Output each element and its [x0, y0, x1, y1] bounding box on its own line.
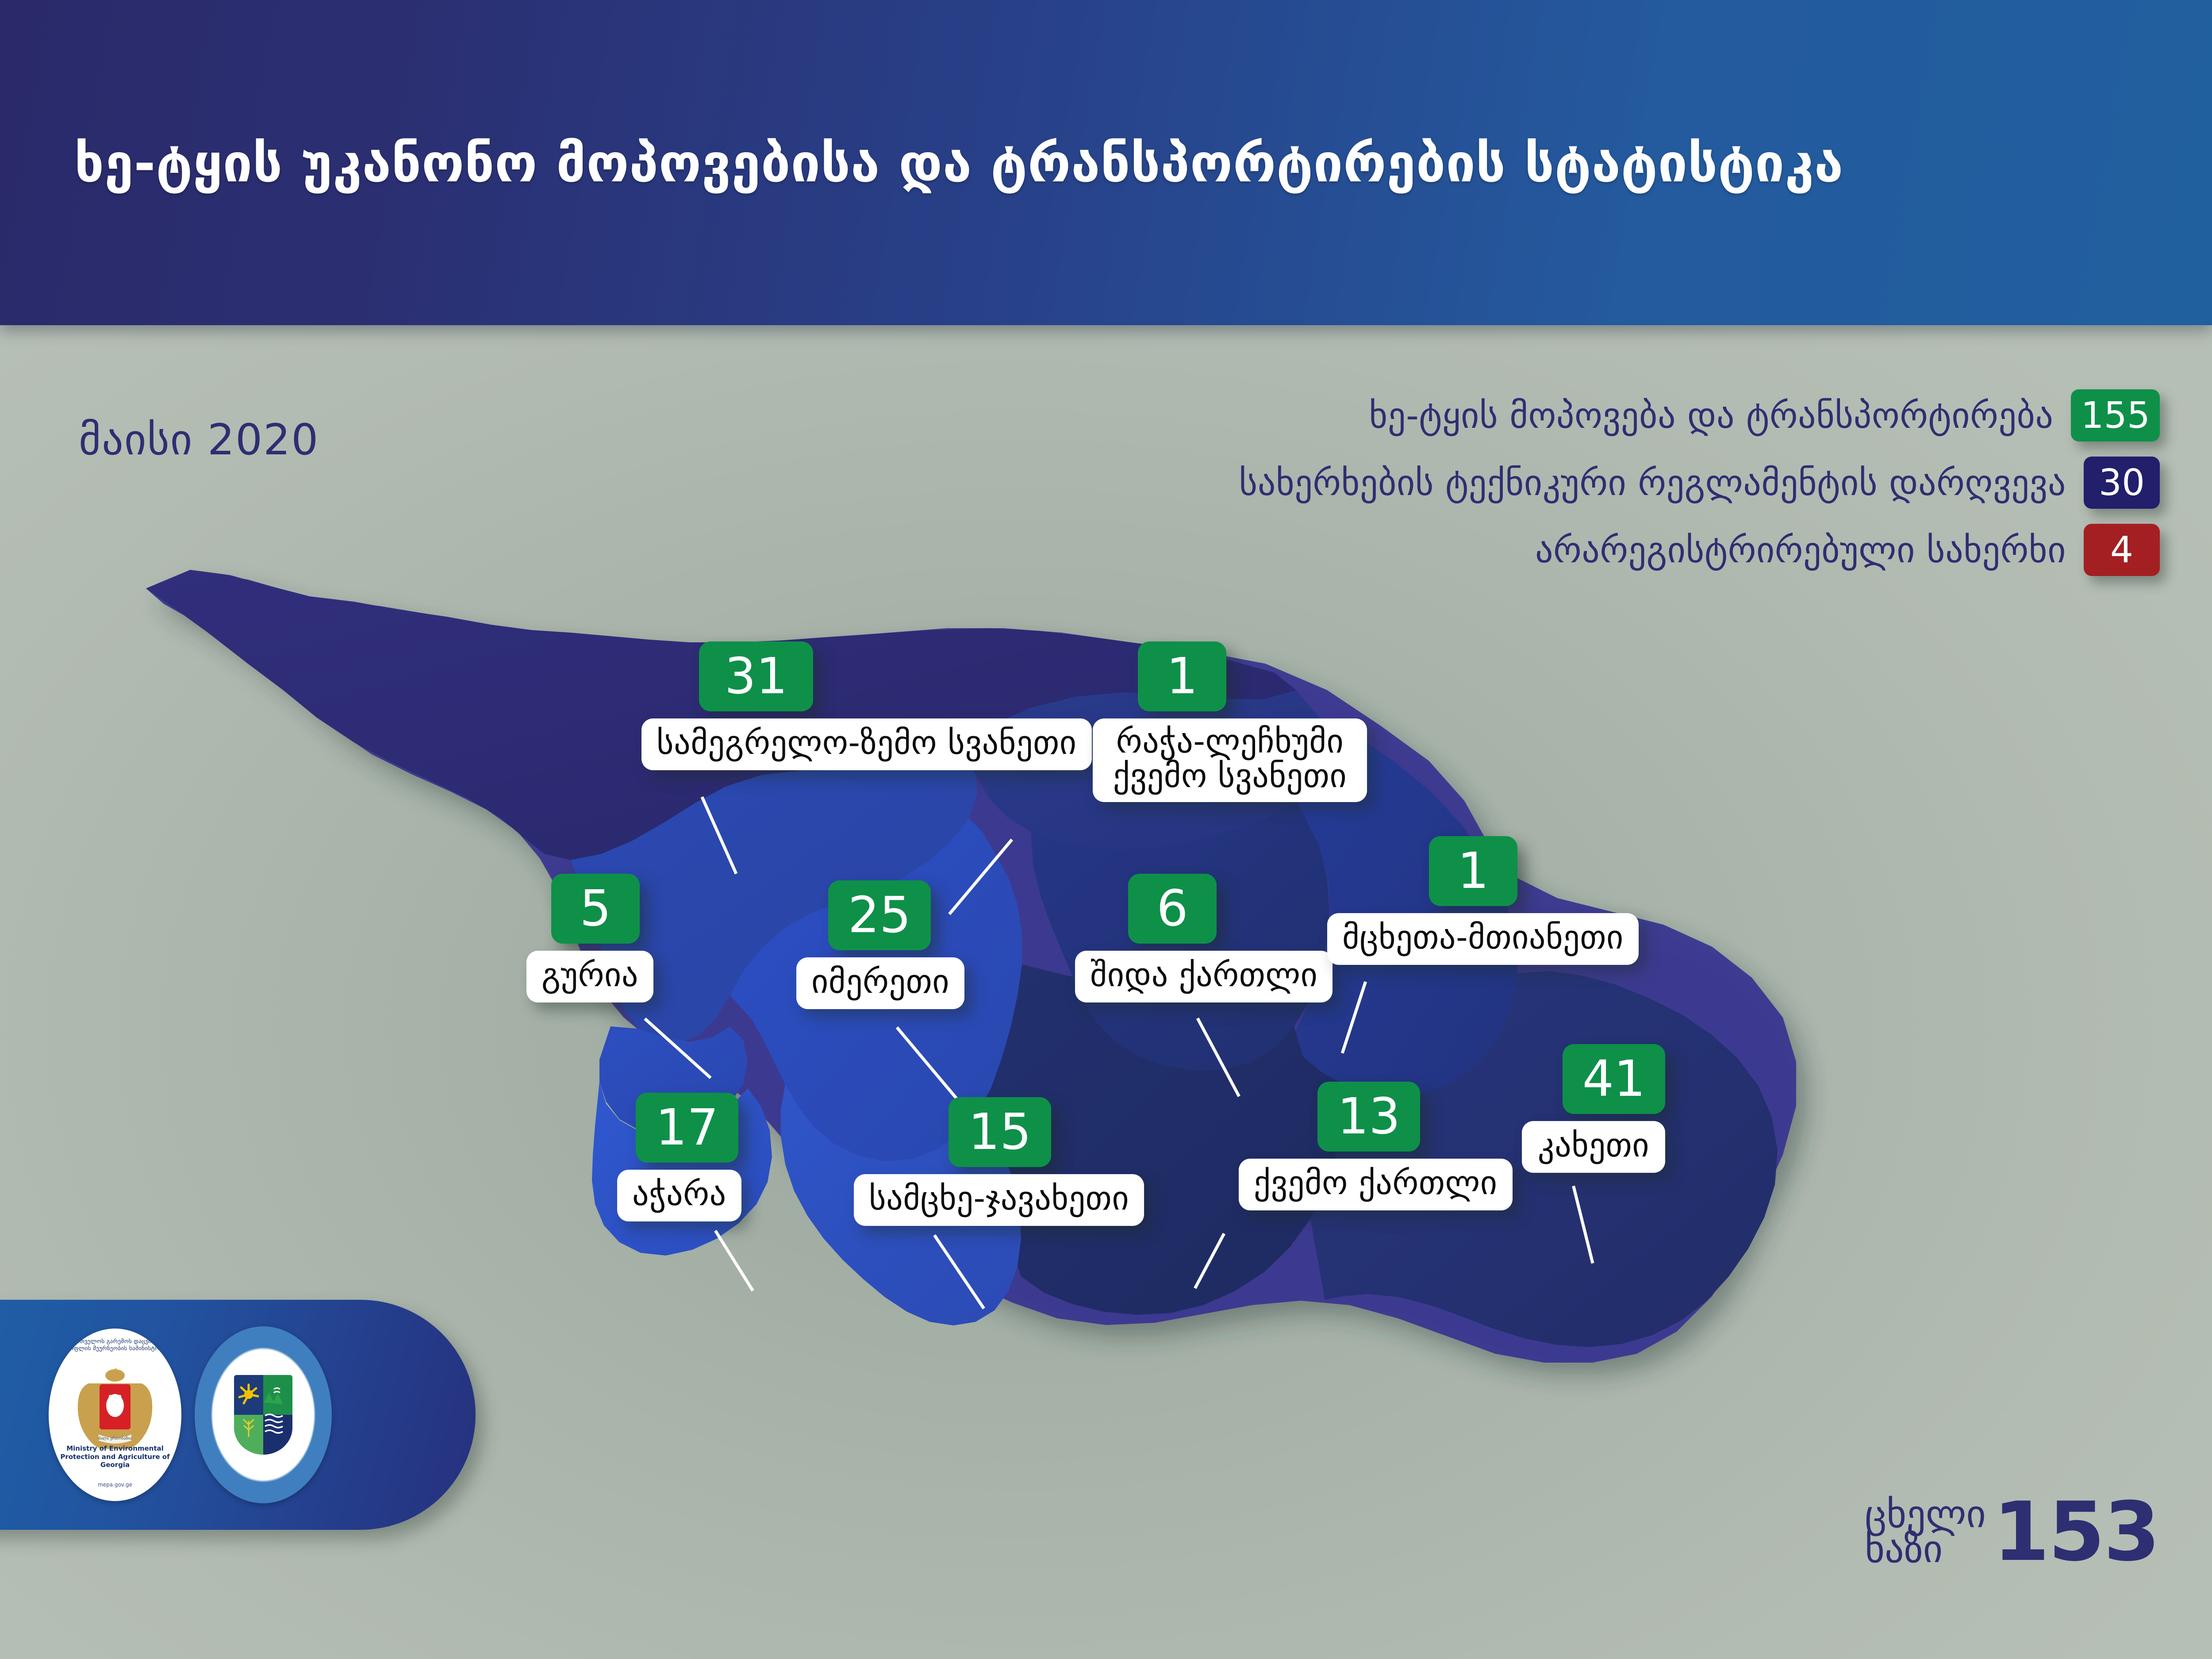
- ministry-seal-english-name: Ministry of Environmental Protection and…: [49, 1444, 181, 1469]
- callout-adjara[interactable]: 17 აჭარა: [617, 1093, 741, 1221]
- shield-emblems: [234, 1375, 292, 1455]
- callout-racha[interactable]: 1 რაჭა-ლეჩხუმი ქვემო სვანეთი: [1093, 641, 1367, 802]
- region-name: რაჭა-ლეჩხუმი ქვემო სვანეთი: [1093, 718, 1367, 802]
- region-name: მცხეთა-მთიანეთი: [1327, 913, 1639, 965]
- region-name: შიდა ქართლი: [1075, 951, 1333, 1002]
- callout-samtskhe[interactable]: 15 სამცხე-ჯავახეთი: [854, 1097, 1144, 1226]
- region-name: ქვემო ქართლი: [1239, 1159, 1513, 1210]
- hotline: ცხელი ხაზი 153: [1865, 1485, 2159, 1579]
- ministry-seal-oval: საქართველოს გარემოს დაცვისა და სოფლის მე…: [49, 1329, 181, 1501]
- region-name-line2: ქვემო სვანეთი: [1113, 757, 1347, 795]
- region-name: გურია: [526, 951, 653, 1002]
- callout-kakheti[interactable]: 41 კახეთი: [1522, 1044, 1665, 1173]
- svg-text:ძალა ერთობაშია: ძალა ერთობაშია: [98, 1436, 132, 1441]
- hotline-label-line2: ხაზი: [1865, 1532, 1986, 1567]
- value-badge: 13: [1317, 1082, 1420, 1152]
- hotline-number: 153: [1993, 1485, 2159, 1579]
- value-badge: 1: [1138, 641, 1226, 711]
- ministry-seal: საქართველოს გარემოს დაცვისა და სოფლის მე…: [49, 1329, 181, 1501]
- region-name-line1: რაჭა-ლეჩხუმი: [1116, 722, 1344, 760]
- value-badge: 5: [551, 874, 640, 944]
- supervision-shield: [234, 1375, 292, 1455]
- callout-kvemo-kartli[interactable]: 13 ქვემო ქართლი: [1239, 1082, 1513, 1210]
- value-badge: 1: [1429, 836, 1517, 906]
- region-name: კახეთი: [1522, 1121, 1665, 1173]
- callout-shida-kartli[interactable]: 6 შიდა ქართლი: [1075, 874, 1333, 1002]
- region-name: სამცხე-ჯავახეთი: [854, 1174, 1144, 1226]
- supervision-department-seal: [195, 1326, 332, 1503]
- hotline-label: ცხელი ხაზი: [1865, 1497, 1986, 1567]
- value-badge: 15: [949, 1097, 1051, 1167]
- value-badge: 31: [699, 641, 813, 711]
- ministry-seal-georgian-ring: საქართველოს გარემოს დაცვისა და სოფლის მე…: [49, 1338, 181, 1352]
- callout-mtskheta[interactable]: 1 მცხეთა-მთიანეთი: [1327, 836, 1639, 965]
- region-name: იმერეთი: [796, 957, 964, 1009]
- georgia-coat-of-arms: ძალა ერთობაშია: [49, 1367, 181, 1456]
- value-badge: 6: [1128, 874, 1217, 944]
- callout-guria[interactable]: 5 გურია: [526, 874, 653, 1002]
- value-badge: 41: [1563, 1044, 1665, 1114]
- ministry-seal-url: mepa.gov.ge: [49, 1482, 181, 1488]
- callout-samegrelo[interactable]: 31 სამეგრელო-ზემო სვანეთი: [641, 641, 1092, 770]
- callout-imereti[interactable]: 25 იმერეთი: [796, 880, 964, 1009]
- value-badge: 25: [828, 880, 931, 950]
- region-name: აჭარა: [617, 1170, 741, 1221]
- value-badge: 17: [636, 1093, 738, 1163]
- organization-logos-panel: საქართველოს გარემოს დაცვისა და სოფლის მე…: [0, 1300, 476, 1530]
- region-name: სამეგრელო-ზემო სვანეთი: [641, 718, 1092, 770]
